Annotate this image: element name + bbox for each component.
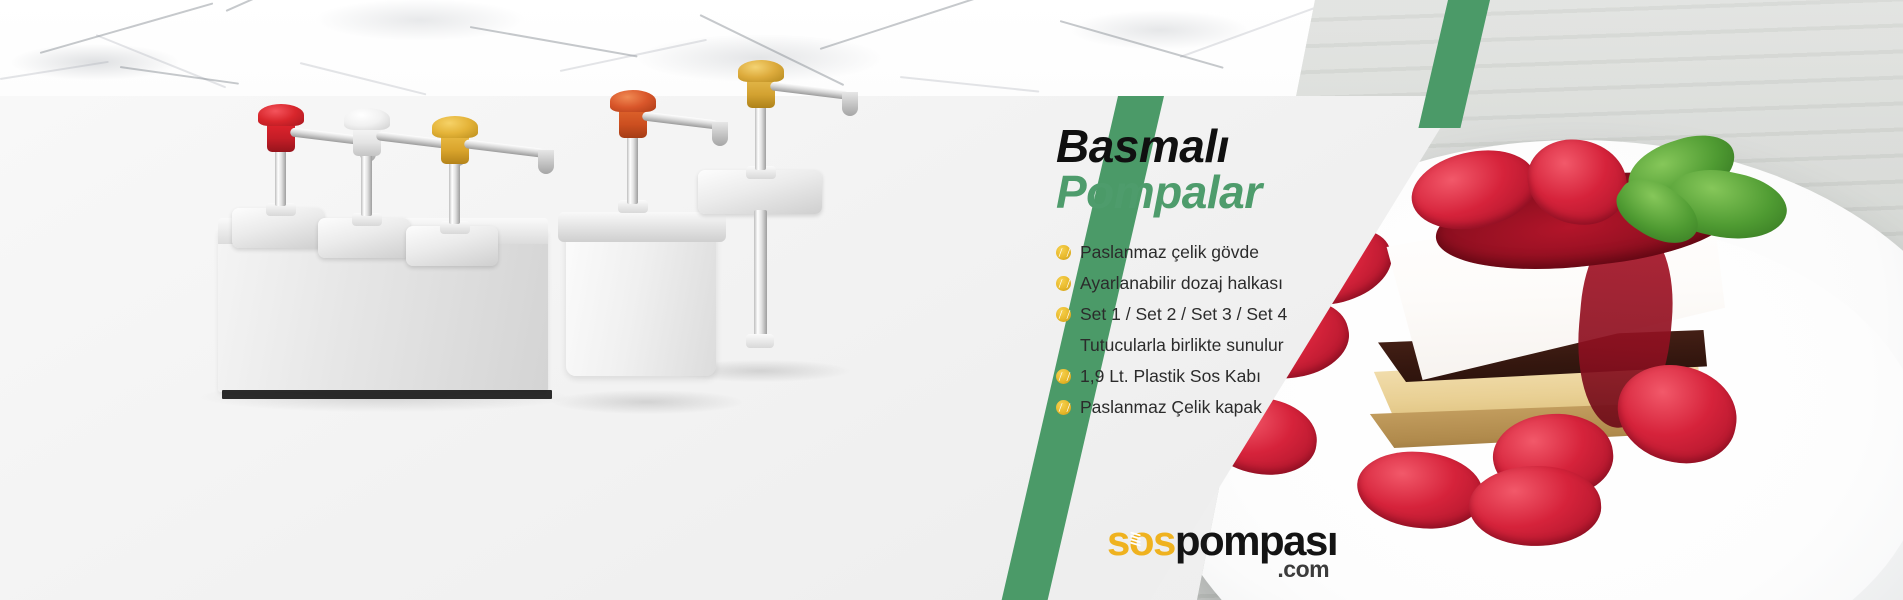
pump-stem: [755, 104, 766, 170]
coil-bullet-icon: [1056, 400, 1071, 415]
pump-spout: [642, 111, 719, 129]
sauce-container-lid: [558, 212, 726, 242]
product-shadow: [552, 390, 742, 414]
pump-knob-yellow: [432, 116, 478, 138]
coil-bullet-icon: [1056, 276, 1071, 291]
pump-spout-tip: [538, 150, 554, 174]
feature-item-continuation: Tutucularla birlikte sunulur: [1056, 333, 1436, 359]
pump-stem: [449, 160, 460, 224]
copy-column: Basmalı Pompalar Paslanmaz çelik gövde A…: [1056, 124, 1436, 426]
feature-label: Set 1 / Set 2 / Set 3 / Set 4: [1080, 302, 1287, 327]
coil-bullet-icon: [1056, 307, 1071, 322]
feature-label: 1,9 Lt. Plastik Sos Kabı: [1080, 364, 1261, 389]
headline: Basmalı Pompalar: [1056, 124, 1436, 214]
pump-shaft-lower: [754, 210, 767, 340]
feature-item: Ayarlanabilir dozaj halkası: [1056, 271, 1436, 297]
pump-spout-tip: [712, 122, 728, 146]
coil-bullet-icon: [1056, 369, 1071, 384]
pump-stem: [627, 136, 638, 204]
feature-label: Tutucularla birlikte sunulur: [1080, 333, 1284, 358]
pump-knob-white: [344, 108, 390, 130]
feature-item: Paslanmaz Çelik kapak: [1056, 395, 1436, 421]
triple-dispenser-base-shadow: [222, 390, 552, 399]
sauce-container: [566, 228, 716, 376]
headline-line-2: Pompalar: [1056, 170, 1436, 214]
brand-logo[interactable]: sos pompası .com: [1107, 520, 1337, 583]
feature-item: 1,9 Lt. Plastik Sos Kabı: [1056, 364, 1436, 390]
feature-list: Paslanmaz çelik gövde Ayarlanabilir doza…: [1056, 240, 1436, 421]
feature-label: Paslanmaz çelik gövde: [1080, 240, 1259, 265]
logo-sos-text: sos: [1107, 520, 1175, 562]
pump-spout: [464, 139, 545, 158]
feature-label: Paslanmaz Çelik kapak: [1080, 395, 1262, 420]
pump-spout: [770, 81, 849, 99]
feature-item: Set 1 / Set 2 / Set 3 / Set 4: [1056, 302, 1436, 328]
headline-line-1: Basmalı: [1056, 124, 1436, 168]
pump-knob-orange: [610, 90, 656, 112]
pump-knob-gold: [738, 60, 784, 82]
pump-stem: [275, 146, 286, 206]
pump-spout-tip: [842, 92, 858, 116]
pump-foot: [746, 334, 774, 348]
promo-banner: Basmalı Pompalar Paslanmaz çelik gövde A…: [0, 0, 1903, 600]
feature-item: Paslanmaz çelik gövde: [1056, 240, 1436, 266]
feature-label: Ayarlanabilir dozaj halkası: [1080, 271, 1283, 296]
pump-knob-red: [258, 104, 304, 126]
coil-bullet-icon: [1056, 245, 1071, 260]
product-group: [170, 60, 930, 480]
pump-stem: [361, 152, 372, 216]
